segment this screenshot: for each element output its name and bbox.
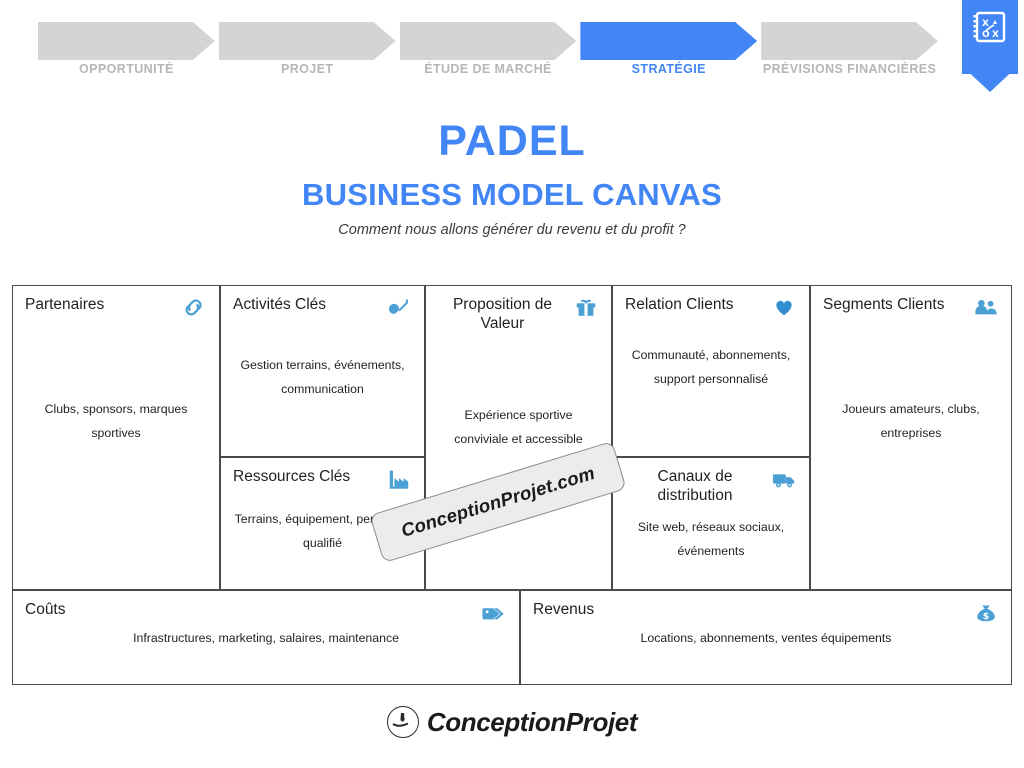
stepper-label-strategie[interactable]: STRATÉGIE [580, 58, 757, 82]
canvas-block-cost-structure[interactable]: Coûts Infrastructures, marketing, salair… [12, 590, 520, 685]
svg-text:X: X [982, 19, 989, 29]
block-header-customer-segments: Segments Clients [811, 286, 1011, 332]
page-subtitle: BUSINESS MODEL CANVAS [0, 178, 1024, 212]
heart-icon [771, 295, 797, 319]
footer-brand-text: ConceptionProjet [427, 707, 637, 738]
block-title-key-resources: Ressources Clés [233, 467, 380, 486]
block-title-customer-segments: Segments Clients [823, 295, 967, 314]
strategy-pin-marker: X O X [962, 0, 1018, 92]
pin-tip [962, 66, 1018, 92]
stepper-chevron-track [38, 22, 938, 60]
page-tagline: Comment nous allons générer du revenu et… [0, 222, 1024, 238]
block-content-value-proposition: Expérience sportive conviviale et access… [436, 404, 601, 452]
block-title-partners: Partenaires [25, 295, 175, 314]
stepper-label-etude-de-marche[interactable]: ÉTUDE DE MARCHÉ [400, 58, 577, 82]
truck-icon [771, 467, 797, 491]
money-bag-icon: $ [973, 600, 999, 624]
canvas-block-customer-relationships[interactable]: Relation Clients Communauté, abonnements… [612, 285, 810, 457]
shovel-icon [386, 295, 412, 319]
canvas-block-value-proposition[interactable]: Proposition de Valeur Expérience sportiv… [425, 285, 612, 590]
block-header-customer-relationships: Relation Clients [613, 286, 809, 332]
block-title-key-activities: Activités Clés [233, 295, 380, 314]
canvas-block-key-activities[interactable]: Activités Clés Gestion terrains, événeme… [220, 285, 425, 457]
stepper-labels: OPPORTUNITÉ PROJET ÉTUDE DE MARCHÉ STRAT… [38, 58, 938, 82]
stepper-chevron-opportunite[interactable] [38, 22, 215, 60]
factory-icon [386, 467, 412, 491]
page-title: PADEL [0, 118, 1024, 164]
block-title-cost-structure: Coûts [25, 600, 475, 619]
block-content-key-activities: Gestion terrains, événements, communicat… [231, 354, 414, 402]
svg-text:$: $ [983, 611, 989, 622]
block-title-customer-relationships: Relation Clients [625, 295, 765, 314]
price-tag-icon [481, 600, 507, 624]
block-content-revenue-streams: Locations, abonnements, ventes équipemen… [531, 629, 1001, 649]
block-header-partners: Partenaires [13, 286, 219, 332]
stepper-chevron-strategie[interactable] [580, 22, 757, 60]
people-icon [973, 295, 999, 319]
block-content-customer-relationships: Communauté, abonnements, support personn… [623, 344, 799, 392]
hand-holding-pen-icon [387, 706, 419, 738]
chain-link-icon [181, 295, 207, 319]
block-header-channels: Canaux de distribution [613, 458, 809, 514]
svg-text:O: O [982, 30, 990, 40]
stepper-label-projet[interactable]: PROJET [219, 58, 396, 82]
footer-logo: ConceptionProjet [0, 706, 1024, 738]
block-content-cost-structure: Infrastructures, marketing, salaires, ma… [23, 629, 509, 649]
process-stepper: OPPORTUNITÉ PROJET ÉTUDE DE MARCHÉ STRAT… [0, 0, 1024, 100]
block-content-partners: Clubs, sponsors, marques sportives [23, 398, 209, 446]
block-header-key-activities: Activités Clés [221, 286, 424, 332]
canvas-block-partners[interactable]: Partenaires Clubs, sponsors, marques spo… [12, 285, 220, 590]
gift-icon [573, 295, 599, 319]
canvas-block-revenue-streams[interactable]: Revenus $ Locations, abonnements, ventes… [520, 590, 1012, 685]
canvas-block-customer-segments[interactable]: Segments Clients Joueurs amateurs, clubs… [810, 285, 1012, 590]
header-block: PADEL BUSINESS MODEL CANVAS Comment nous… [0, 118, 1024, 238]
stepper-label-previsions-financieres[interactable]: PRÉVISIONS FINANCIÈRES [761, 58, 938, 82]
block-title-revenue-streams: Revenus [533, 600, 967, 619]
stepper-chevron-previsions-financieres[interactable] [761, 22, 938, 60]
stepper-chevron-projet[interactable] [219, 22, 396, 60]
block-content-customer-segments: Joueurs amateurs, clubs, entreprises [821, 398, 1001, 446]
stepper-chevron-etude-de-marche[interactable] [400, 22, 577, 60]
strategy-playbook-icon: X O X [973, 10, 1007, 44]
block-title-value-proposition: Proposition de Valeur [438, 295, 567, 334]
canvas-block-channels[interactable]: Canaux de distribution Site web, réseaux… [612, 457, 810, 590]
stepper-label-opportunite[interactable]: OPPORTUNITÉ [38, 58, 215, 82]
block-header-value-proposition: Proposition de Valeur [426, 286, 611, 342]
block-header-key-resources: Ressources Clés [221, 458, 424, 504]
svg-text:X: X [992, 30, 999, 40]
block-content-channels: Site web, réseaux sociaux, événements [623, 516, 799, 564]
block-title-channels: Canaux de distribution [625, 467, 765, 506]
